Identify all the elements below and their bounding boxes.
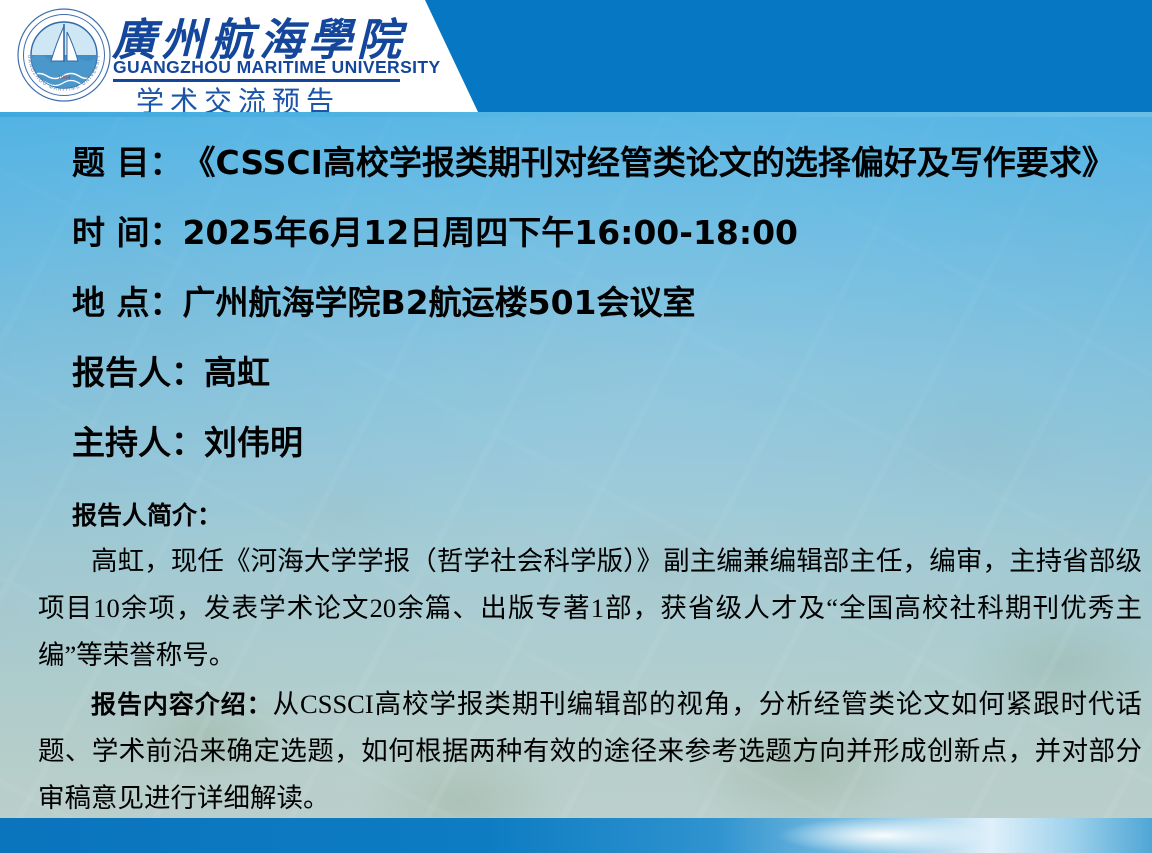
speaker-bio-text: 高虹，现任《河海大学学报（哲学社会科学版）》副主编兼编辑部主任，编审，主持省部级… <box>38 538 1142 679</box>
detail-label: 报告人： <box>72 346 204 394</box>
seal-icon: 1964 GUANGZHOU MARITIME UNIVERSITY <box>15 6 113 104</box>
detail-row-host: 主持人：刘伟明 <box>72 416 303 464</box>
detail-value: 刘伟明 <box>204 416 303 464</box>
abstract-paragraph: 报告内容介绍：从CSSCI高校学报类期刊编辑部的视角，分析经管类论文如何紧跟时代… <box>38 681 1142 822</box>
detail-label: 题 目： <box>72 136 183 184</box>
seal-year: 1964 <box>58 74 72 81</box>
detail-label: 主持人： <box>72 416 204 464</box>
detail-value: 2025年6月12日周四下午16:00-18:00 <box>183 206 799 254</box>
header-underbar <box>0 112 1152 117</box>
poster-body: 题 目：《CSSCI高校学报类期刊对经管类论文的选择偏好及写作要求》 时 间：2… <box>0 118 1152 818</box>
detail-value: 广州航海学院B2航运楼501会议室 <box>183 276 696 324</box>
speaker-bio-heading: 报告人简介： <box>72 496 222 532</box>
detail-label: 地 点： <box>72 276 183 324</box>
university-name-en: GUANGZHOU MARITIME UNIVERSITY <box>113 57 441 78</box>
detail-row-time: 时 间：2025年6月12日周四下午16:00-18:00 <box>72 206 798 254</box>
detail-value: 《CSSCI高校学报类期刊对经管类论文的选择偏好及写作要求》 <box>183 136 1115 184</box>
poster-header: 1964 GUANGZHOU MARITIME UNIVERSITY 廣州航海學… <box>0 0 1152 116</box>
announcement-poster: 1964 GUANGZHOU MARITIME UNIVERSITY 廣州航海學… <box>0 0 1152 853</box>
abstract-heading: 报告内容介绍： <box>91 690 273 719</box>
detail-value: 高虹 <box>204 346 270 394</box>
detail-label: 时 间： <box>72 206 183 254</box>
footer-glow <box>732 818 1032 853</box>
detail-row-place: 地 点：广州航海学院B2航运楼501会议室 <box>72 276 696 324</box>
poster-footer-bar <box>0 818 1152 853</box>
university-seal-logo: 1964 GUANGZHOU MARITIME UNIVERSITY <box>15 6 113 104</box>
detail-row-speaker: 报告人：高虹 <box>72 346 270 394</box>
detail-row-title: 题 目：《CSSCI高校学报类期刊对经管类论文的选择偏好及写作要求》 <box>72 136 1115 184</box>
